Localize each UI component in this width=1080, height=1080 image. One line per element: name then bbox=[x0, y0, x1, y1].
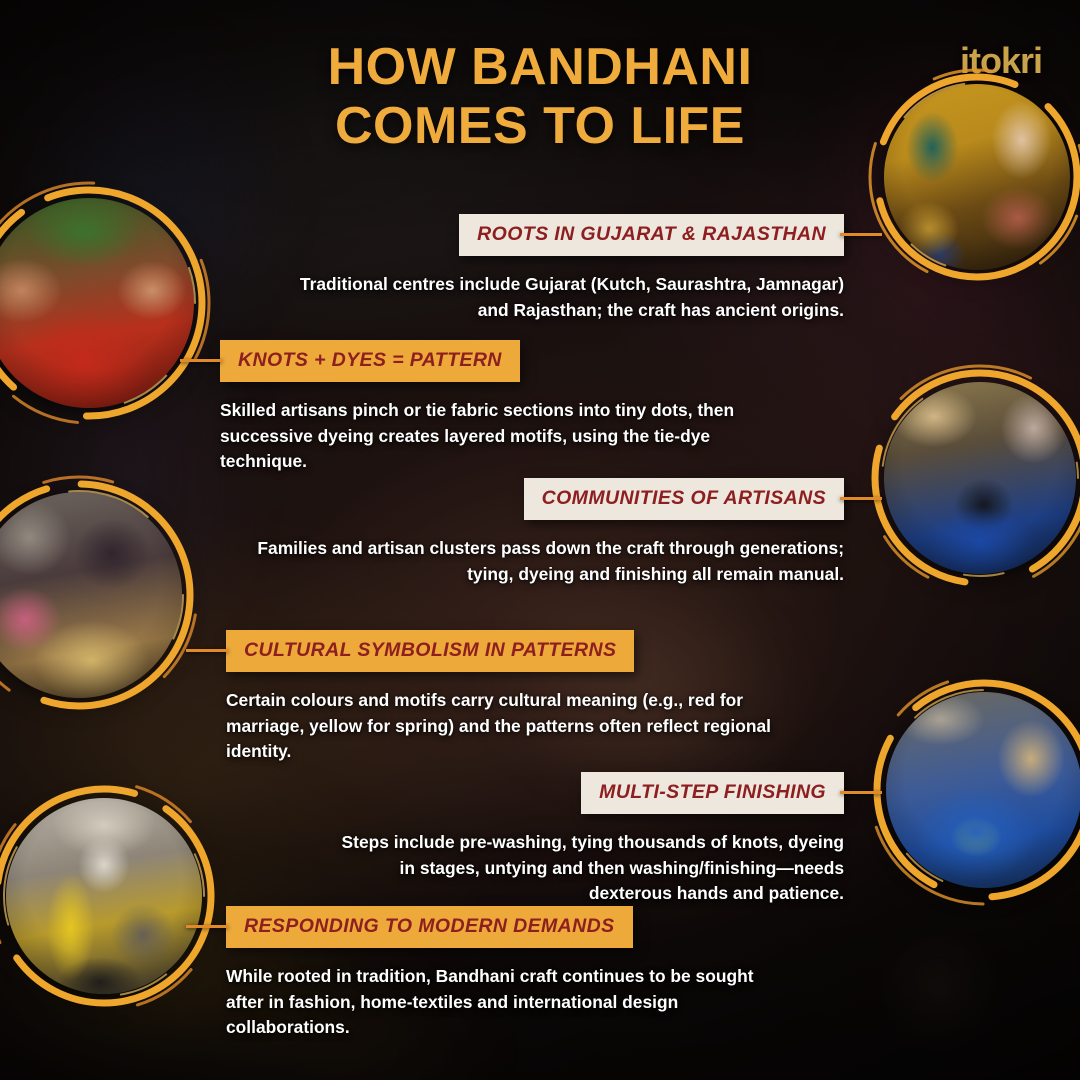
section-finishing-body: Steps include pre-washing, tying thousan… bbox=[328, 830, 844, 907]
infographic-poster: HOW BANDHANI COMES TO LIFE itokri bbox=[0, 0, 1080, 1080]
section-knots-dyes: KNOTS + DYES = PATTERN Skilled artisans … bbox=[220, 340, 766, 475]
connector-roots bbox=[840, 233, 882, 236]
itokri-logo[interactable]: itokri bbox=[960, 40, 1042, 82]
section-communities: COMMUNITIES OF ARTISANS Families and art… bbox=[252, 478, 844, 587]
photo-shade bbox=[884, 84, 1070, 270]
photo-shade bbox=[886, 692, 1080, 888]
photo-yellow-dyed-yarn bbox=[6, 798, 202, 994]
itokri-logo-text: itokri bbox=[960, 40, 1042, 81]
connector-finishing bbox=[840, 791, 882, 794]
section-modern-demands-heading[interactable]: RESPONDING TO MODERN DEMANDS bbox=[226, 906, 633, 948]
photo-shade bbox=[884, 382, 1076, 574]
section-roots-body: Traditional centres include Gujarat (Kut… bbox=[274, 272, 844, 323]
connector-modern-demands bbox=[186, 925, 228, 928]
section-communities-heading[interactable]: COMMUNITIES OF ARTISANS bbox=[524, 478, 844, 520]
section-communities-body: Families and artisan clusters pass down … bbox=[252, 536, 844, 587]
section-finishing-heading[interactable]: MULTI-STEP FINISHING bbox=[581, 772, 844, 814]
connector-symbolism bbox=[186, 649, 228, 652]
section-knots-dyes-body: Skilled artisans pinch or tie fabric sec… bbox=[220, 398, 766, 475]
section-modern-demands-body: While rooted in tradition, Bandhani craf… bbox=[226, 964, 792, 1041]
section-modern-demands: RESPONDING TO MODERN DEMANDS While roote… bbox=[226, 906, 792, 1041]
section-symbolism-body: Certain colours and motifs carry cultura… bbox=[226, 688, 782, 765]
section-knots-dyes-heading[interactable]: KNOTS + DYES = PATTERN bbox=[220, 340, 520, 382]
connector-communities bbox=[840, 497, 882, 500]
section-symbolism: CULTURAL SYMBOLISM IN PATTERNS Certain c… bbox=[226, 630, 782, 765]
section-finishing: MULTI-STEP FINISHING Steps include pre-w… bbox=[328, 772, 844, 907]
page-title-line-1: HOW BANDHANI bbox=[328, 38, 753, 96]
photo-shade bbox=[6, 798, 202, 994]
connector-knots-dyes bbox=[180, 359, 222, 362]
section-roots-heading[interactable]: ROOTS IN GUJARAT & RAJASTHAN bbox=[459, 214, 844, 256]
photo-dyer-blue-tub bbox=[884, 382, 1076, 574]
photo-hands-tying-red-cloth bbox=[0, 198, 194, 408]
photo-indigo-vat bbox=[886, 692, 1080, 888]
section-symbolism-heading[interactable]: CULTURAL SYMBOLISM IN PATTERNS bbox=[226, 630, 634, 672]
photo-women-tying-bandhani bbox=[884, 84, 1070, 270]
section-roots: ROOTS IN GUJARAT & RAJASTHAN Traditional… bbox=[274, 214, 844, 323]
photo-woman-workshop bbox=[0, 492, 182, 698]
